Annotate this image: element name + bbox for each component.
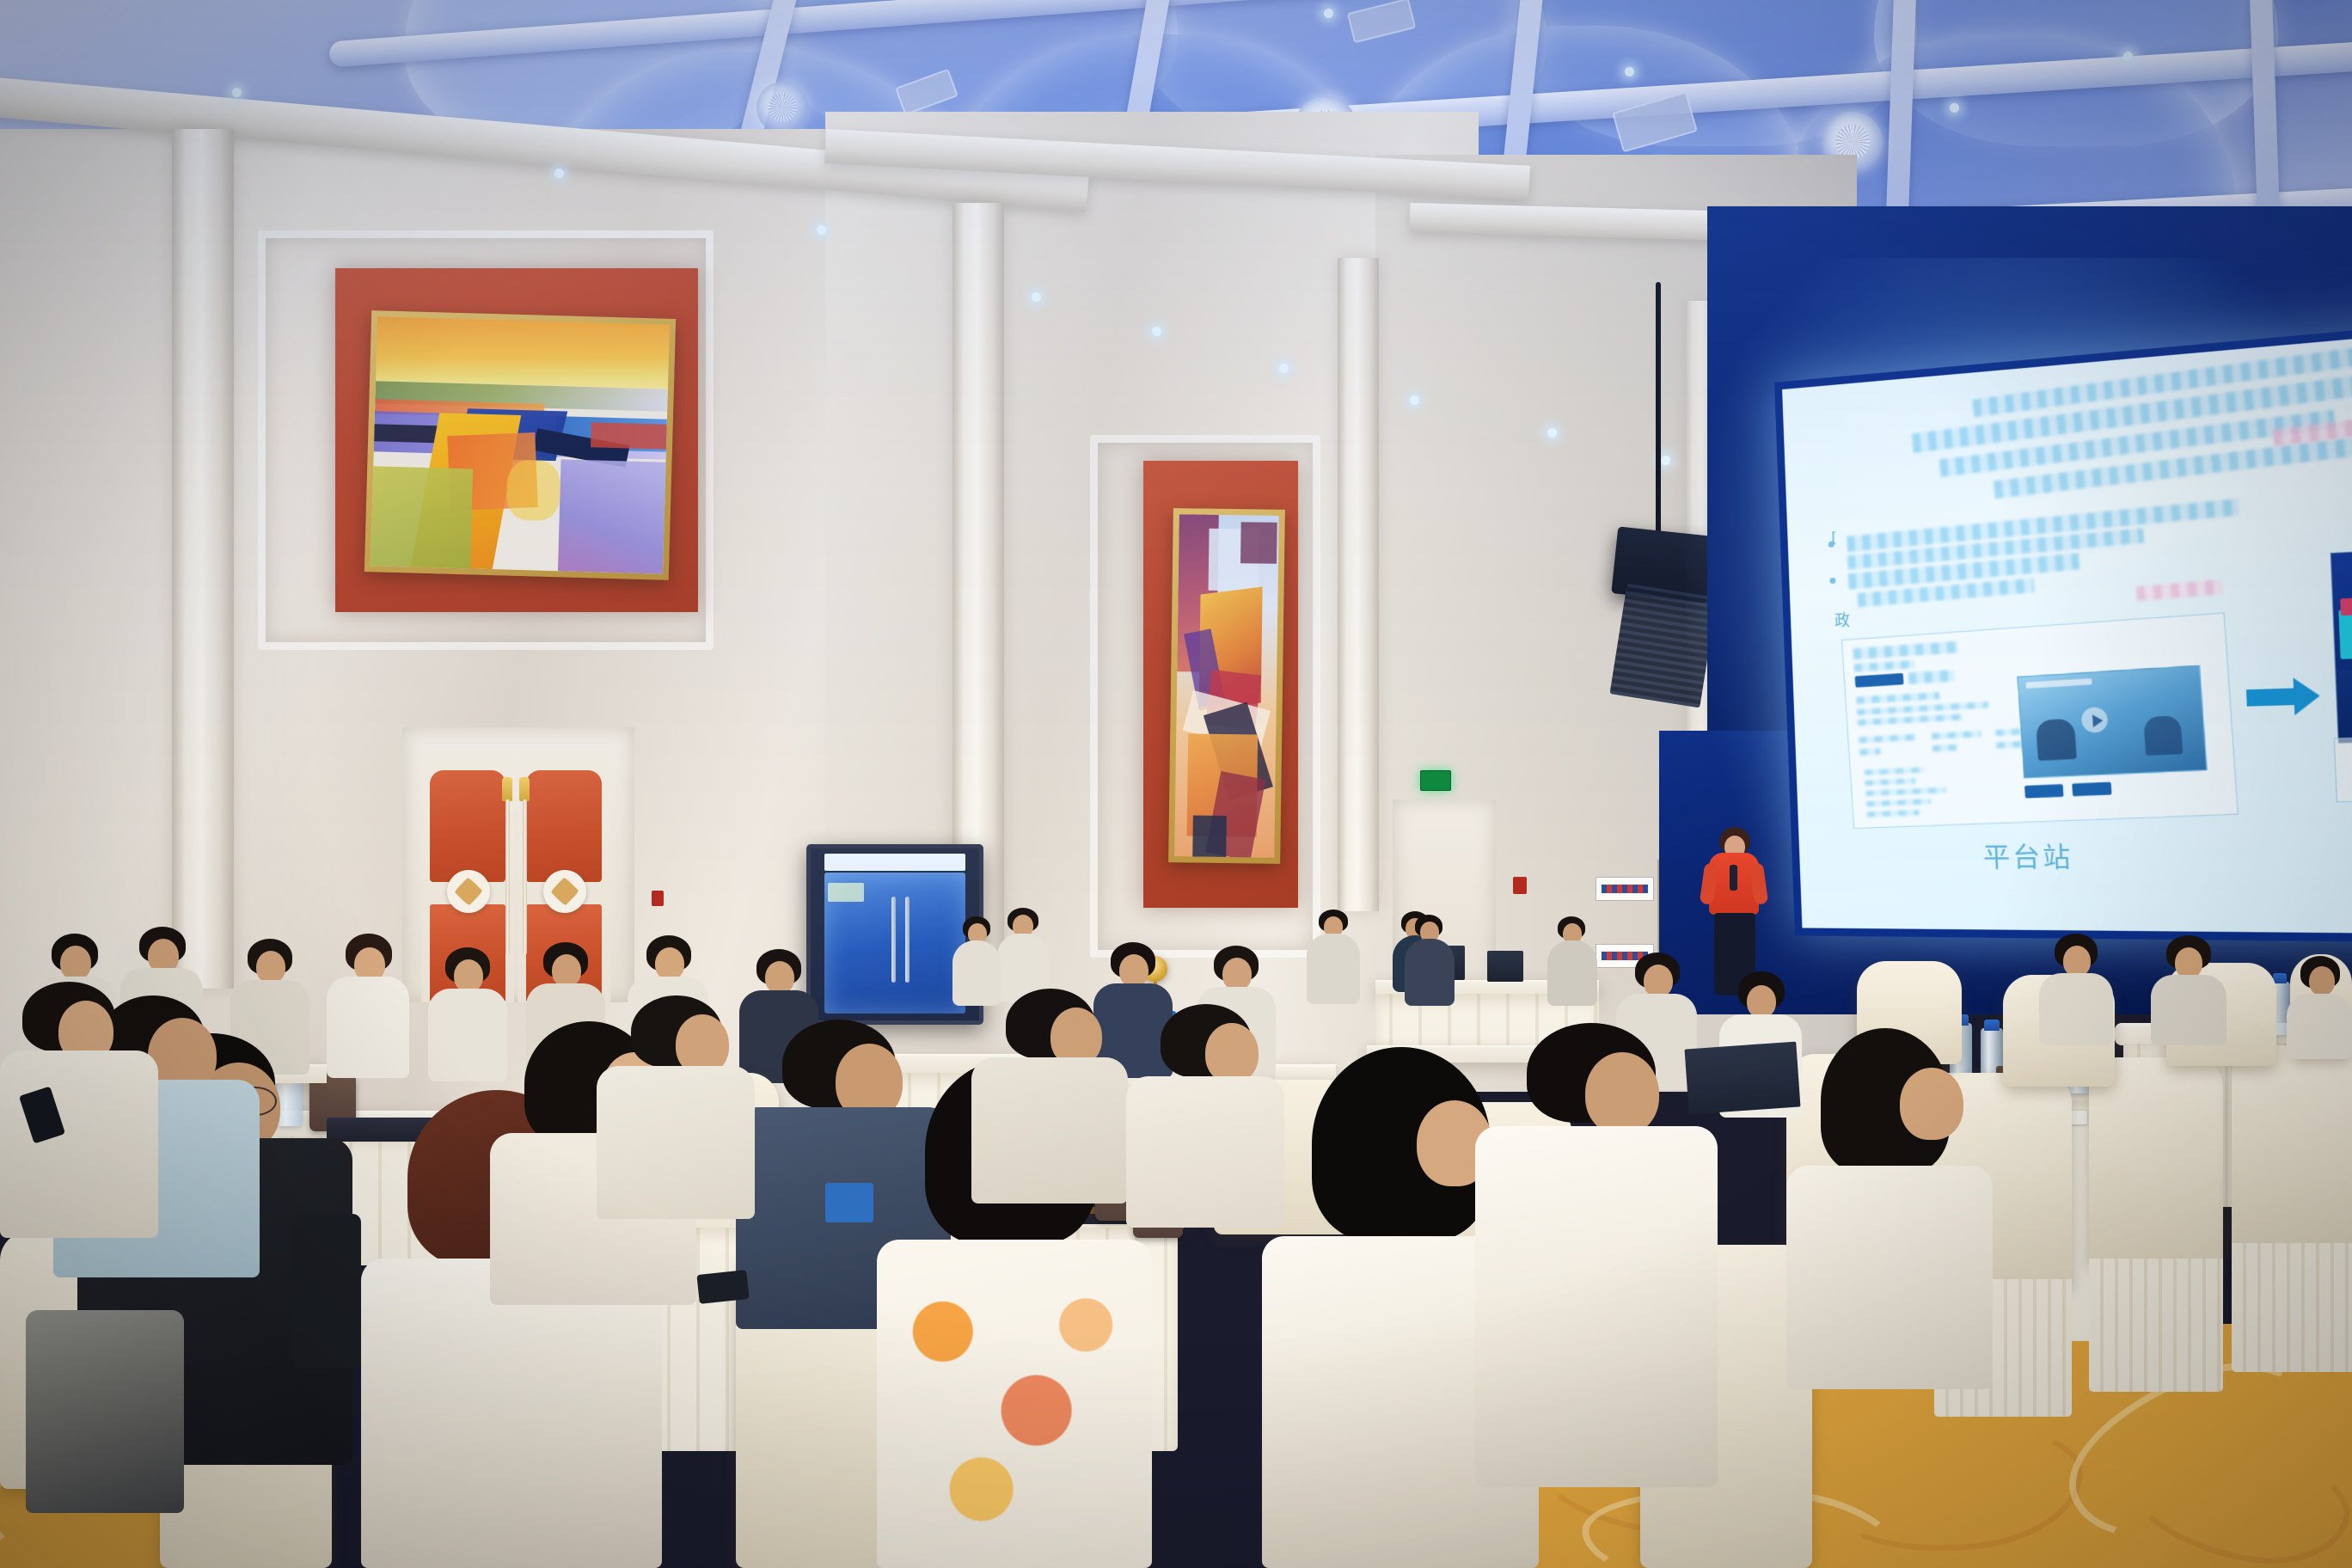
conference-hall-photo: [ 政 平台站 [0,0,2352,1568]
attendee [2149,935,2228,1045]
wall-downlight [817,225,826,235]
pilaster [1338,258,1379,911]
cooler-label [828,883,864,902]
wall-downlight [1547,428,1557,438]
landscape-painting [364,310,676,580]
web-page-screenshot [1841,612,2239,829]
attendee-foreground [1786,1028,2001,1389]
slide-bullet [1829,578,1835,584]
door-handle-left[interactable] [502,777,512,801]
downlight [2123,52,2133,61]
attendee [1405,915,1455,1006]
slide-arrow-shaft [2246,688,2296,706]
fire-alarm-box [1513,877,1527,894]
backpack [26,1310,184,1513]
slide-button-left [2024,784,2064,799]
wall-downlight [1279,364,1289,373]
attendee [1307,910,1360,1004]
banquet-chair [2089,1057,2223,1267]
lanyard-badge [825,1183,873,1222]
attendee [2037,934,2115,1045]
downlight [1950,103,1959,113]
ceiling-rosette [756,82,808,133]
downlight [1324,9,1333,18]
door-medallion-left [447,870,490,913]
slide-inline-label: [ [1831,529,1837,546]
laptop[interactable] [1487,951,1523,982]
door-panel-right [526,770,602,882]
attendee [1126,1004,1289,1228]
cooler-header [824,854,966,871]
wall-downlight [1410,395,1419,405]
chair-skirt [2232,1243,2352,1372]
slide-thumbnail-image [2017,665,2207,779]
mobile-shot-frame [2334,735,2352,802]
slide-content: [ 政 平台站 [1782,332,2352,934]
attendee [1547,916,1597,1006]
downlight [1625,67,1634,77]
door-medallion-right [543,870,586,913]
attendee [971,989,1135,1204]
speaker-pole [1656,282,1661,540]
slide-arrow-head [2294,677,2321,715]
smartphone[interactable] [696,1270,749,1304]
wall-downlight [1032,292,1041,302]
chair-skirt [2089,1259,2223,1392]
attendee [597,995,760,1219]
slide-inline-label-2: 政 [1834,608,1851,631]
handheld-microphone [1730,865,1737,891]
door-handle-right[interactable] [519,777,530,801]
figure-painting [1168,508,1285,864]
wall-downlight [1661,456,1670,465]
exit-sign [1420,770,1451,791]
laptop[interactable] [1685,1042,1801,1115]
attendee [2287,956,2352,1059]
door-panel-left [430,770,505,882]
pilaster [172,129,234,989]
wall-downlight [554,168,564,178]
presentation-screen: [ 政 平台站 [1774,322,2352,943]
fire-alarm-box [652,891,664,906]
slide-button-right [2072,782,2111,797]
wall-downlight [232,88,242,97]
wall-downlight [1152,327,1161,336]
banquet-chair [2232,1045,2352,1252]
slide-caption: 平台站 [1982,835,2073,874]
sponsor-sign [1596,877,1654,901]
mobile-app-screenshot [2331,546,2352,744]
